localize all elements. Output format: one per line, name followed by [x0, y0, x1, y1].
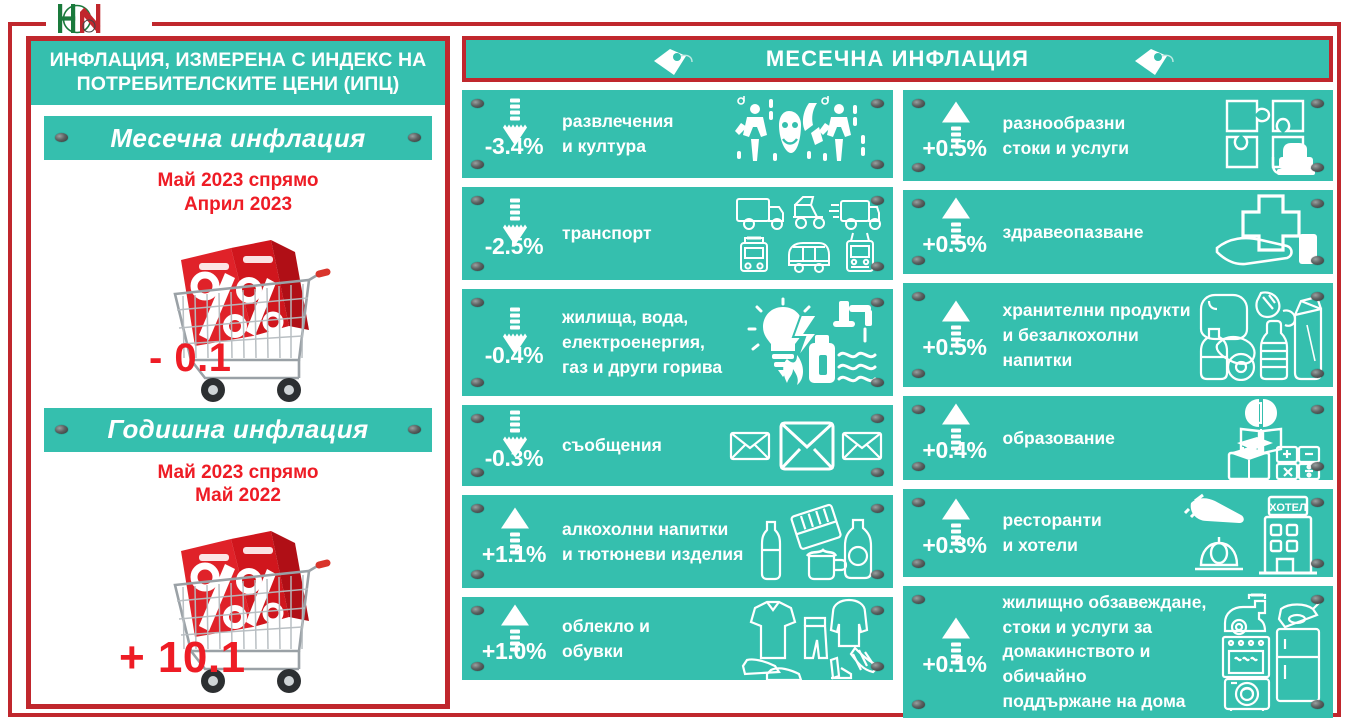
monthly-cart-block: - 0.1: [31, 218, 445, 414]
screw-icon: [1311, 595, 1324, 604]
screw-icon: [871, 196, 884, 205]
card-label-line: алкохолни напитки: [562, 517, 749, 542]
card-label: хранителни продуктии безалкохолнинапитки: [1001, 298, 1196, 373]
card-percentage: -2.5%: [468, 233, 560, 260]
page-title: ИНФЛАЦИЯ, ИЗМЕРЕНА С ИНДЕКС НА ПОТРЕБИТЕ…: [31, 41, 445, 105]
frame-segment-top-right: [152, 22, 1341, 26]
price-tag-icon: [1133, 45, 1177, 79]
frame-segment-top-left: [8, 22, 46, 26]
card-metric: +1.1%: [468, 495, 560, 588]
annual-period-line2: Май 2022: [31, 484, 445, 507]
price-tag-icon: [652, 45, 696, 79]
monthly-inflation-value: - 0.1: [149, 336, 232, 381]
screw-icon: [871, 662, 884, 671]
card-metric: +1.0%: [468, 597, 560, 680]
category-card[interactable]: +0.3%ресторантии хотели ХОТЕЛ: [903, 489, 1334, 576]
card-metric: +0.5%: [909, 190, 1001, 274]
card-label-line: и безалкохолни: [1003, 323, 1192, 348]
card-label-line: съобщения: [562, 433, 723, 458]
card-percentage: +0.5%: [909, 231, 1001, 258]
right-panel: МЕСЕЧНА ИНФЛАЦИЯ -3.4%развлеченияи култу…: [462, 36, 1333, 711]
cards-column-right: +0.5%разнообразнистоки и услуги +0.5%здр…: [903, 90, 1334, 718]
monthly-period-line1: Май 2023 спрямо: [31, 169, 445, 192]
card-label-line: поддържане на дома: [1003, 689, 1216, 714]
card-label: алкохолни напиткии тютюневи изделия: [560, 517, 753, 567]
card-metric: +0.3%: [909, 489, 1001, 576]
card-label-line: ресторанти: [1003, 508, 1180, 533]
shopping-cart-icon: [113, 218, 363, 413]
screw-icon: [871, 160, 884, 169]
category-card[interactable]: +1.1%алкохолни напиткии тютюневи изделия: [462, 495, 893, 588]
card-label: здравеопазване: [1001, 220, 1216, 245]
card-label: жилища, вода,електроенергия,газ и други …: [560, 305, 747, 380]
annual-period-line1: Май 2023 спрямо: [31, 461, 445, 484]
screw-icon: [871, 298, 884, 307]
frame-segment-left: [8, 22, 12, 717]
card-percentage: -0.4%: [468, 342, 560, 369]
card-metric: +0.5%: [909, 283, 1001, 387]
category-card[interactable]: -0.3%съобщения: [462, 405, 893, 486]
screw-icon: [871, 414, 884, 423]
card-label-line: и култура: [562, 134, 729, 159]
card-label: облекло иобувки: [560, 614, 733, 664]
card-percentage: +0.5%: [909, 135, 1001, 162]
food-beverages-icon: [1195, 289, 1327, 381]
category-card[interactable]: +0.5%здравеопазване: [903, 190, 1334, 274]
monthly-period-note: Май 2023 спрямо Април 2023: [31, 169, 445, 215]
section-header-monthly: Месечна инфлация: [44, 116, 432, 160]
card-label-line: жилищно обзавеждане,: [1003, 590, 1216, 615]
clothing-footwear-icon: [733, 596, 887, 682]
screw-icon: [871, 99, 884, 108]
card-label: ресторантии хотели: [1001, 508, 1184, 558]
furnishings-household-icon: [1219, 593, 1327, 711]
category-card[interactable]: +0.1%жилищно обзавеждане,стоки и услуги …: [903, 586, 1334, 718]
card-label-line: газ и други горива: [562, 355, 743, 380]
screw-icon: [408, 133, 421, 142]
card-metric: +0.1%: [909, 586, 1001, 718]
monthly-period-line2: Април 2023: [31, 193, 445, 216]
card-label-line: жилища, вода,: [562, 305, 743, 330]
category-card[interactable]: +0.5%разнообразнистоки и услуги: [903, 90, 1334, 181]
card-percentage: +0.1%: [909, 651, 1001, 678]
card-label: развлеченияи култура: [560, 109, 733, 159]
card-metric: -3.4%: [468, 90, 560, 178]
left-panel: ИНФЛАЦИЯ, ИЗМЕРЕНА С ИНДЕКС НА ПОТРЕБИТЕ…: [26, 36, 450, 709]
category-card[interactable]: +1.0%облекло иобувки: [462, 597, 893, 680]
screw-icon: [55, 425, 68, 434]
card-metric: -0.3%: [468, 405, 560, 486]
category-card[interactable]: -2.5%транспорт: [462, 187, 893, 280]
card-metric: -0.4%: [468, 289, 560, 396]
alcohol-tobacco-icon: [753, 502, 887, 582]
screw-icon: [871, 504, 884, 513]
screw-icon: [1311, 559, 1324, 568]
card-label-line: и тютюневи изделия: [562, 542, 749, 567]
screw-icon: [408, 425, 421, 434]
card-label: съобщения: [560, 433, 727, 458]
recreation-culture-icon: [733, 95, 887, 173]
annual-inflation-value: + 10.1: [119, 633, 246, 683]
card-label-line: хранителни продукти: [1003, 298, 1192, 323]
card-label-line: електроенергия,: [562, 330, 743, 355]
card-label: жилищно обзавеждане,стоки и услуги задом…: [1001, 590, 1220, 714]
card-label-line: и хотели: [1003, 533, 1180, 558]
card-label-line: стоки и услуги: [1003, 136, 1218, 161]
card-label-line: транспорт: [562, 221, 729, 246]
card-percentage: -3.4%: [468, 133, 560, 160]
card-percentage: -0.3%: [468, 445, 560, 472]
card-label: разнообразнистоки и услуги: [1001, 111, 1222, 161]
restaurants-hotels-icon: ХОТЕЛ: [1183, 491, 1327, 575]
communications-icon: [727, 415, 887, 477]
card-label-line: здравеопазване: [1003, 220, 1212, 245]
card-percentage: +0.4%: [909, 437, 1001, 464]
screw-icon: [871, 262, 884, 271]
card-label-line: развлечения: [562, 109, 729, 134]
card-metric: -2.5%: [468, 187, 560, 280]
card-label-line: домакинството и обичайно: [1003, 639, 1216, 689]
card-metric: +0.5%: [909, 90, 1001, 181]
card-label-line: обувки: [562, 639, 729, 664]
card-label-line: стоки и услуги за: [1003, 615, 1216, 640]
frame-segment-right: [1337, 22, 1341, 717]
screw-icon: [871, 570, 884, 579]
card-metric: +0.4%: [909, 396, 1001, 480]
section-heading-monthly: Месечна инфлация: [110, 123, 365, 154]
category-card[interactable]: +0.4%образование: [903, 396, 1334, 480]
nsi-logo-icon: [42, 2, 112, 36]
housing-utilities-icon: [747, 297, 887, 389]
card-label-line: напитки: [1003, 348, 1192, 373]
section-heading-annual: Годишна инфлация: [107, 414, 368, 445]
card-percentage: +1.0%: [468, 638, 560, 665]
card-label-line: разнообразни: [1003, 111, 1218, 136]
screw-icon: [871, 378, 884, 387]
section-header-annual: Годишна инфлация: [44, 408, 432, 452]
screw-icon: [1311, 99, 1324, 108]
screw-icon: [55, 133, 68, 142]
card-label: образование: [1001, 426, 1216, 451]
screw-icon: [1311, 700, 1324, 709]
annual-cart-block: + 10.1: [31, 509, 445, 701]
category-card[interactable]: -0.4%жилища, вода,електроенергия,газ и д…: [462, 289, 893, 396]
card-label-line: облекло и: [562, 614, 729, 639]
category-card[interactable]: -3.4%развлеченияи култура: [462, 90, 893, 178]
screw-icon: [871, 606, 884, 615]
main-header: МЕСЕЧНА ИНФЛАЦИЯ: [462, 36, 1333, 82]
cards-column-left: -3.4%развлеченияи култура: [462, 90, 893, 718]
annual-period-note: Май 2023 спрямо Май 2022: [31, 461, 445, 507]
screw-icon: [871, 468, 884, 477]
transport-icon: [733, 193, 887, 275]
main-header-title: МЕСЕЧНА ИНФЛАЦИЯ: [766, 46, 1029, 72]
card-percentage: +0.5%: [909, 334, 1001, 361]
card-label: транспорт: [560, 221, 733, 246]
cards-columns: -3.4%развлеченияи култура: [462, 90, 1333, 718]
card-label-line: образование: [1003, 426, 1212, 451]
card-percentage: +1.1%: [468, 541, 560, 568]
infographic-page: ИНФЛАЦИЯ, ИЗМЕРЕНА С ИНДЕКС НА ПОТРЕБИТЕ…: [0, 0, 1351, 727]
svg-text:ХОТЕЛ: ХОТЕЛ: [1269, 502, 1306, 514]
category-card[interactable]: +0.5%хранителни продуктии безалкохолнина…: [903, 283, 1334, 387]
card-percentage: +0.3%: [909, 532, 1001, 559]
